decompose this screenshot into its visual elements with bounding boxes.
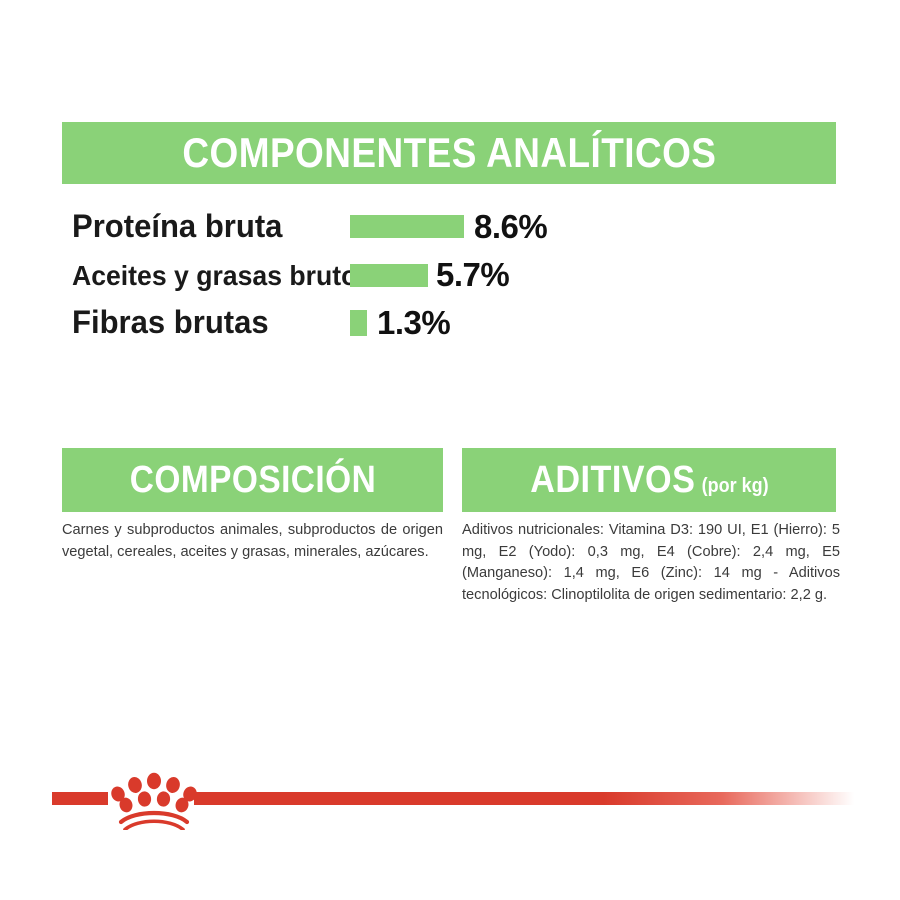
composition-section-title: COMPOSICIÓN — [129, 461, 375, 499]
analytic-section-header: COMPONENTES ANALÍTICOS — [62, 122, 836, 184]
analytic-section-title: COMPONENTES ANALÍTICOS — [182, 132, 716, 174]
footer — [0, 750, 900, 850]
analytic-row-bar — [350, 310, 367, 336]
analytic-row-label: Aceites y grasas brutos — [72, 262, 372, 290]
additives-section-title: ADITIVOS — [530, 461, 695, 499]
footer-rule-right — [194, 792, 854, 805]
composition-text: Carnes y subproductos animales, subprodu… — [62, 520, 443, 563]
analytic-row-bar — [350, 264, 428, 287]
royal-canin-crown-icon — [108, 768, 200, 830]
additives-text: Aditivos nutricionales: Vitamina D3: 190… — [462, 520, 840, 606]
nutrition-label-page: COMPONENTES ANALÍTICOS Proteína bruta 8.… — [0, 0, 900, 900]
additives-section-header: ADITIVOS (por kg) — [462, 448, 836, 512]
footer-rule-left — [52, 792, 108, 805]
analytic-row-value: 8.6% — [474, 210, 547, 243]
composition-section-header: COMPOSICIÓN — [62, 448, 443, 512]
additives-title-group: ADITIVOS (por kg) — [530, 461, 768, 499]
analytic-row: Proteína bruta 8.6% — [62, 200, 662, 248]
analytic-row-label: Proteína bruta — [72, 210, 282, 242]
analytic-row-label: Fibras brutas — [72, 306, 269, 338]
analytic-row-value: 1.3% — [377, 306, 450, 339]
analytic-row-value: 5.7% — [436, 258, 509, 291]
additives-section-unit: (por kg) — [701, 476, 768, 496]
analytic-bar-chart: Proteína bruta 8.6% Aceites y grasas bru… — [62, 200, 662, 344]
analytic-row: Aceites y grasas brutos 5.7% — [62, 248, 662, 296]
analytic-row-bar — [350, 215, 464, 238]
analytic-row: Fibras brutas 1.3% — [62, 296, 662, 344]
